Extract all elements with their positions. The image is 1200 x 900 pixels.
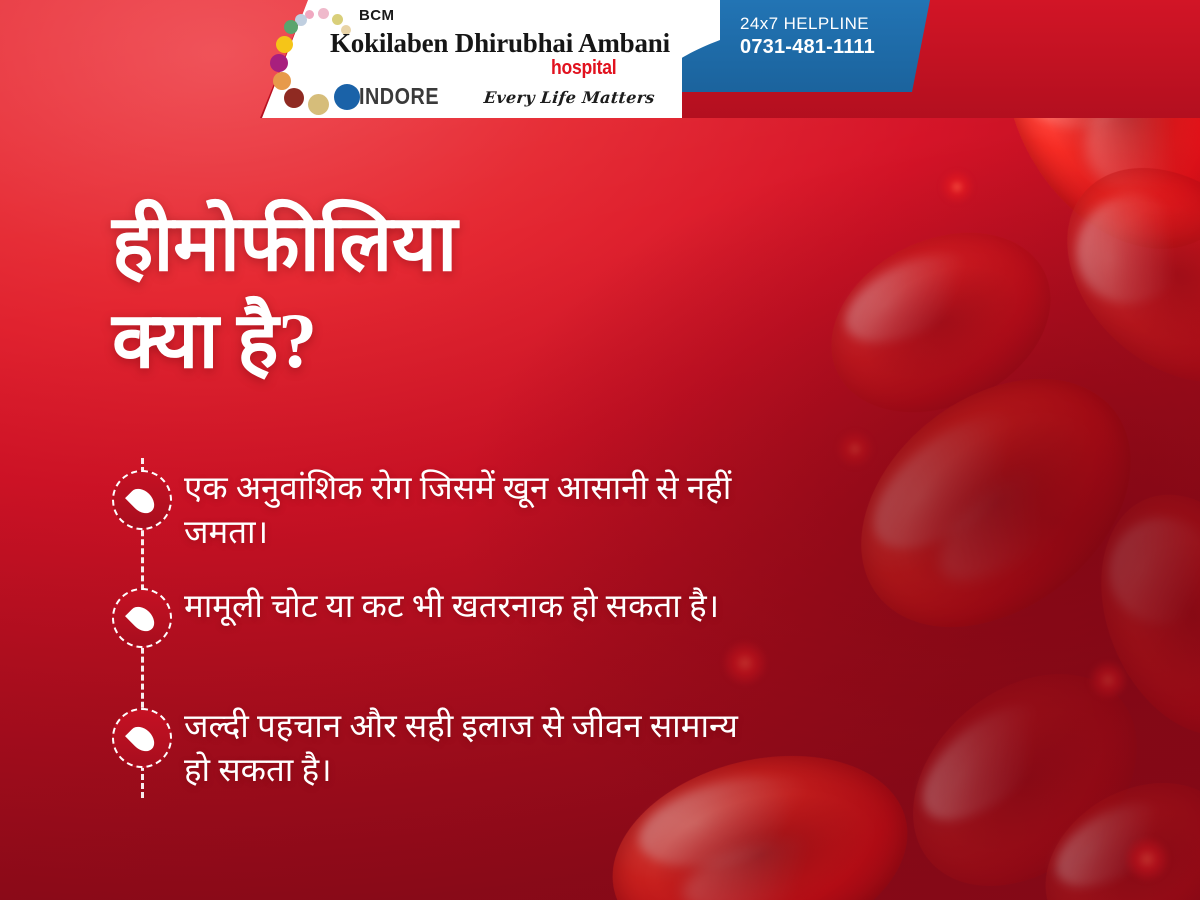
headline-line-2: क्या है? [112,293,752,390]
helpline-label: 24x7 HELPLINE [740,14,920,35]
blood-drop-icon [112,470,172,530]
logo-bcm-label: BCM [359,7,394,24]
logo-brand-name: Kokilaben Dhirubhai Ambani [330,28,670,59]
blood-drop-icon [112,588,172,648]
list-item-text: मामूली चोट या कट भी खतरनाक हो सकता है। [184,586,764,630]
list-item-text: जल्दी पहचान और सही इलाज से जीवन सामान्य … [184,706,764,794]
hemophilia-awareness-poster: 24x7 HELPLINE 0731-481-1111 BCM Kokilabe… [0,0,1200,900]
logo-city-label: INDORE [359,83,439,110]
bullet-timeline: एक अनुवांशिक रोग जिसमें खून आसानी से नही… [112,440,772,810]
page-title: हीमोफीलिया क्या है? [112,196,752,389]
helpline-info: 24x7 HELPLINE 0731-481-1111 [740,14,920,59]
logo-tagline: Every Life Matters [483,88,656,107]
blood-drop-icon [112,708,172,768]
header-banner: 24x7 HELPLINE 0731-481-1111 BCM Kokilabe… [0,0,1200,135]
helpline-number[interactable]: 0731-481-1111 [740,35,920,59]
headline-line-1: हीमोफीलिया [112,200,457,287]
list-item-text: एक अनुवांशिक रोग जिसमें खून आसानी से नही… [184,468,764,556]
logo-hospital-label: hospital [551,57,616,80]
